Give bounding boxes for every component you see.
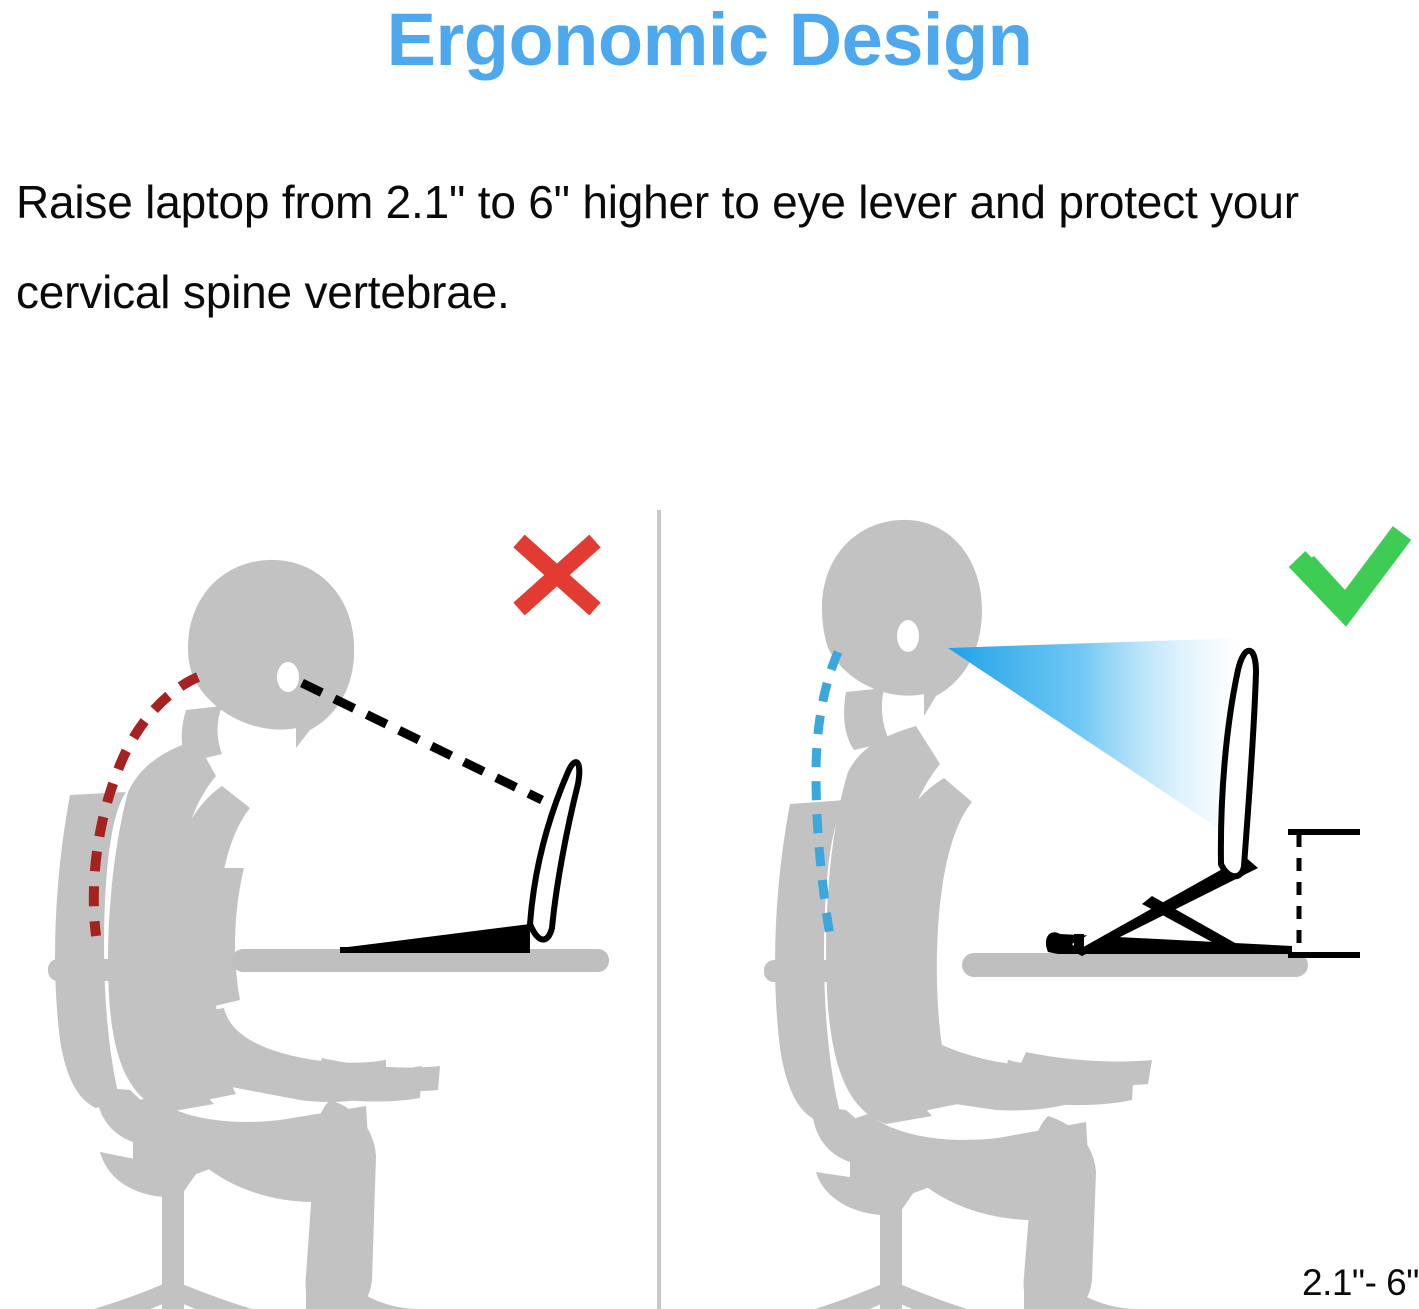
figure-arm-right [869,868,1152,1111]
description-paragraph: Raise laptop from 2.1" to 6" higher to e… [16,158,1406,337]
bad-posture-illustration [0,541,609,1309]
check-icon [1297,533,1402,612]
ergonomic-design-infographic: Ergonomic Design Raise laptop from 2.1" … [0,0,1419,1309]
figure-eye-right [897,620,919,652]
vision-cone [948,638,1242,844]
laptop-flat [340,762,579,950]
page-title: Ergonomic Design [0,2,1419,77]
figure-arm [185,868,440,1102]
figure-eye [277,662,299,692]
sight-line-bad [302,683,542,800]
dimension-measure [1288,832,1360,955]
cross-icon [519,541,595,609]
dimension-label: 2.1"- 6" [1302,1262,1419,1304]
comparison-illustration: 2.1"- 6" [0,400,1419,1309]
desk-surface-right [962,953,1308,977]
figure-neck [182,706,222,762]
good-posture-illustration [725,520,1402,1309]
figure-head-right [822,520,982,716]
figure-neck-right [844,688,890,750]
